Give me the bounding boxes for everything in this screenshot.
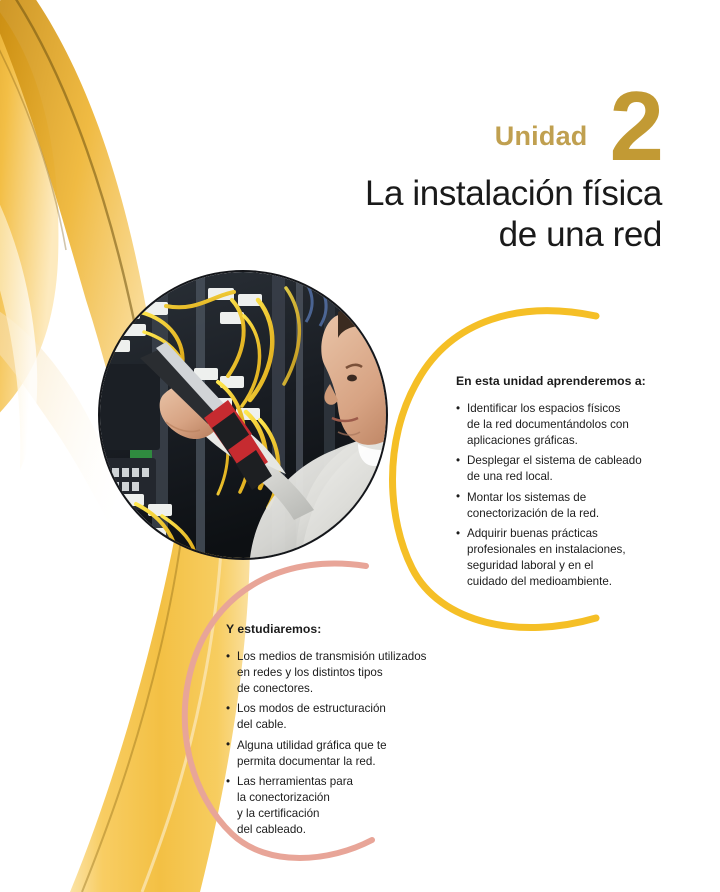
list-item: Adquirir buenas prácticas profesionales …	[456, 526, 664, 589]
list-item: Los modos de estructuración del cable.	[226, 701, 440, 733]
list-item: Los medios de transmisión utilizados en …	[226, 649, 440, 696]
unit-opener-page: Unidad 2 La instalación física de una re…	[0, 0, 720, 892]
list-item: Identificar los espacios físicos de la r…	[456, 401, 664, 448]
unit-number: 2	[609, 88, 662, 164]
page-header: Unidad 2 La instalación física de una re…	[242, 88, 662, 256]
list-item: Desplegar el sistema de cableado de una …	[456, 453, 664, 485]
unit-label: Unidad	[495, 123, 588, 164]
study-topics-heading: Y estudiaremos:	[226, 622, 440, 636]
learning-objectives-panel: En esta unidad aprenderemos a: Identific…	[456, 374, 664, 594]
list-item: Montar los sistemas de conectorización d…	[456, 490, 664, 522]
list-item: Alguna utilidad gráfica que te permita d…	[226, 738, 440, 770]
learning-objectives-list: Identificar los espacios físicos de la r…	[456, 401, 664, 589]
page-title: La instalación física de una red	[242, 174, 662, 256]
list-item: Las herramientas para la conectorización…	[226, 774, 440, 837]
unit-row: Unidad 2	[242, 88, 662, 164]
study-topics-list: Los medios de transmisión utilizados en …	[226, 649, 440, 837]
learning-objectives-heading: En esta unidad aprenderemos a:	[456, 374, 664, 388]
study-topics-panel: Y estudiaremos: Los medios de transmisió…	[226, 622, 440, 842]
network-technician-photo	[100, 272, 386, 558]
